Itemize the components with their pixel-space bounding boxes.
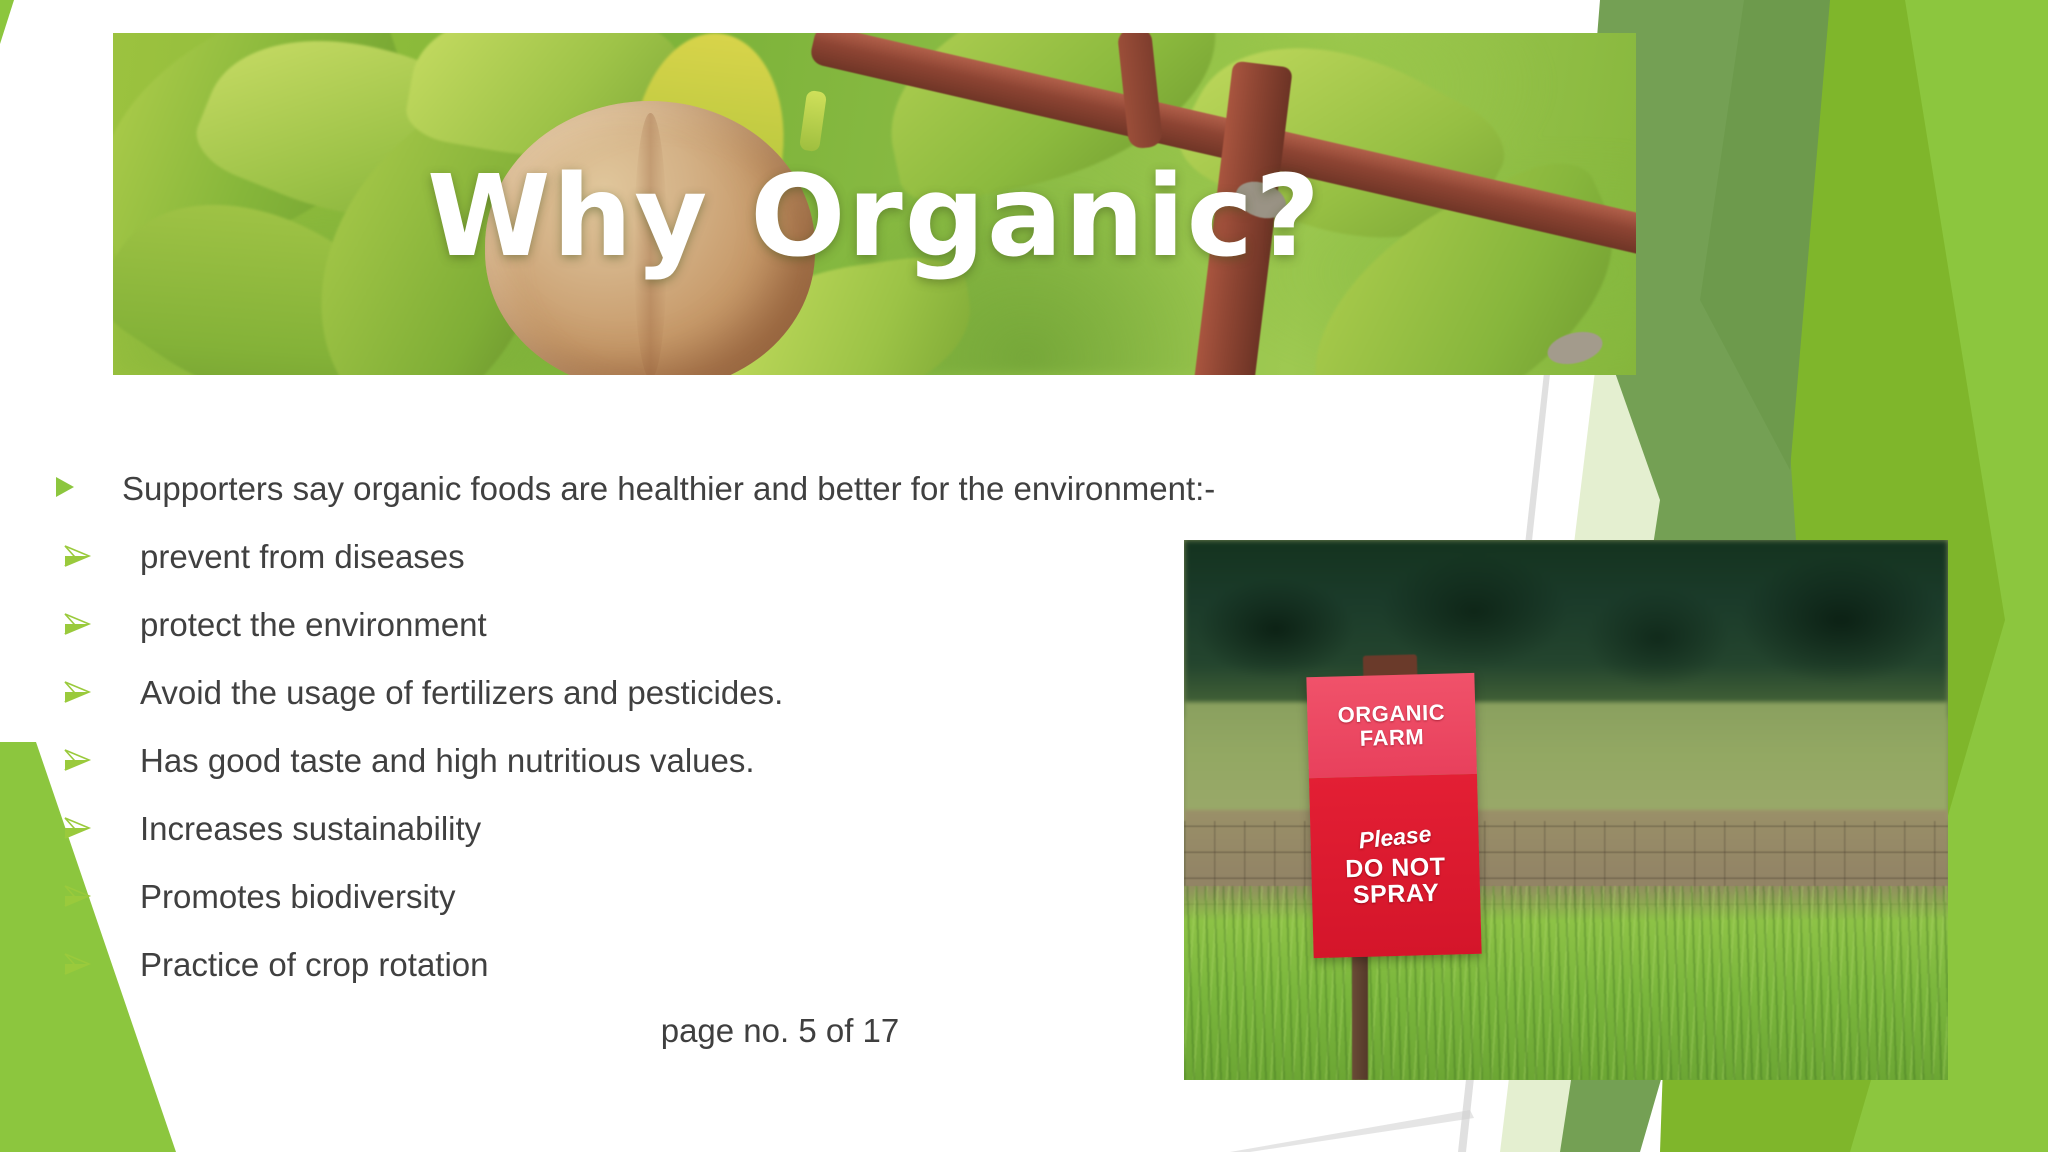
chevron-arrow-bullet-icon bbox=[52, 744, 132, 772]
list-item[interactable]: Practice of crop rotation bbox=[52, 946, 1172, 992]
facet-line-bottom bbox=[1230, 1110, 1474, 1152]
list-item[interactable]: Promotes biodiversity bbox=[52, 878, 1172, 924]
list-item-label: protect the environment bbox=[132, 606, 487, 645]
presentation-slide: Why Organic? Supporters say organic food… bbox=[0, 0, 2048, 1152]
facet-shape-top-left bbox=[0, 0, 14, 44]
list-item-label: Increases sustainability bbox=[132, 810, 481, 849]
sign-top-panel: ORGANIC FARM bbox=[1306, 673, 1477, 778]
organic-farm-photo: ORGANIC FARM Please DO NOT SPRAY bbox=[1184, 540, 1948, 1080]
chevron-arrow-bullet-icon bbox=[52, 608, 132, 636]
list-item-label: Supporters say organic foods are healthi… bbox=[122, 470, 1215, 509]
chevron-arrow-bullet-icon bbox=[52, 540, 132, 568]
banner-image: Why Organic? bbox=[113, 33, 1636, 375]
do-not-spray-sign: ORGANIC FARM Please DO NOT SPRAY bbox=[1306, 673, 1481, 958]
chevron-arrow-bullet-icon bbox=[52, 948, 132, 976]
list-item[interactable]: Has good taste and high nutritious value… bbox=[52, 742, 1172, 788]
chevron-arrow-bullet-icon bbox=[52, 812, 132, 840]
photo-treeline bbox=[1184, 540, 1948, 718]
list-item-label: Practice of crop rotation bbox=[132, 946, 489, 985]
banner-title-text: Why Organic? bbox=[113, 161, 1636, 273]
list-item[interactable]: prevent from diseases bbox=[52, 538, 1172, 584]
facet-shape-olive-right bbox=[1700, 0, 1830, 470]
bullet-list: Supporters say organic foods are healthi… bbox=[52, 470, 1172, 1014]
sign-line-farm: FARM bbox=[1360, 725, 1425, 750]
sign-line-please: Please bbox=[1357, 821, 1432, 855]
list-item-label: Has good taste and high nutritious value… bbox=[132, 742, 755, 781]
page-number-text: page no. 5 of 17 bbox=[480, 1012, 1080, 1050]
sign-line-do-not: DO NOT bbox=[1345, 854, 1446, 883]
solid-triangle-bullet-icon bbox=[52, 470, 122, 500]
sign-line-spray: SPRAY bbox=[1353, 880, 1440, 909]
list-item-label: Promotes biodiversity bbox=[132, 878, 455, 917]
sign-bottom-panel: Please DO NOT SPRAY bbox=[1309, 774, 1482, 958]
list-item-label: Avoid the usage of fertilizers and pesti… bbox=[132, 674, 783, 713]
chevron-arrow-bullet-icon bbox=[52, 676, 132, 704]
list-item[interactable]: Avoid the usage of fertilizers and pesti… bbox=[52, 674, 1172, 720]
sign-line-organic: ORGANIC bbox=[1337, 701, 1445, 727]
chevron-arrow-bullet-icon bbox=[52, 880, 132, 908]
list-item-label: prevent from diseases bbox=[132, 538, 465, 577]
list-item[interactable]: Increases sustainability bbox=[52, 810, 1172, 856]
list-item[interactable]: protect the environment bbox=[52, 606, 1172, 652]
list-item[interactable]: Supporters say organic foods are healthi… bbox=[52, 470, 1172, 516]
photo-grass bbox=[1184, 886, 1948, 1080]
photo-field bbox=[1184, 702, 1948, 821]
